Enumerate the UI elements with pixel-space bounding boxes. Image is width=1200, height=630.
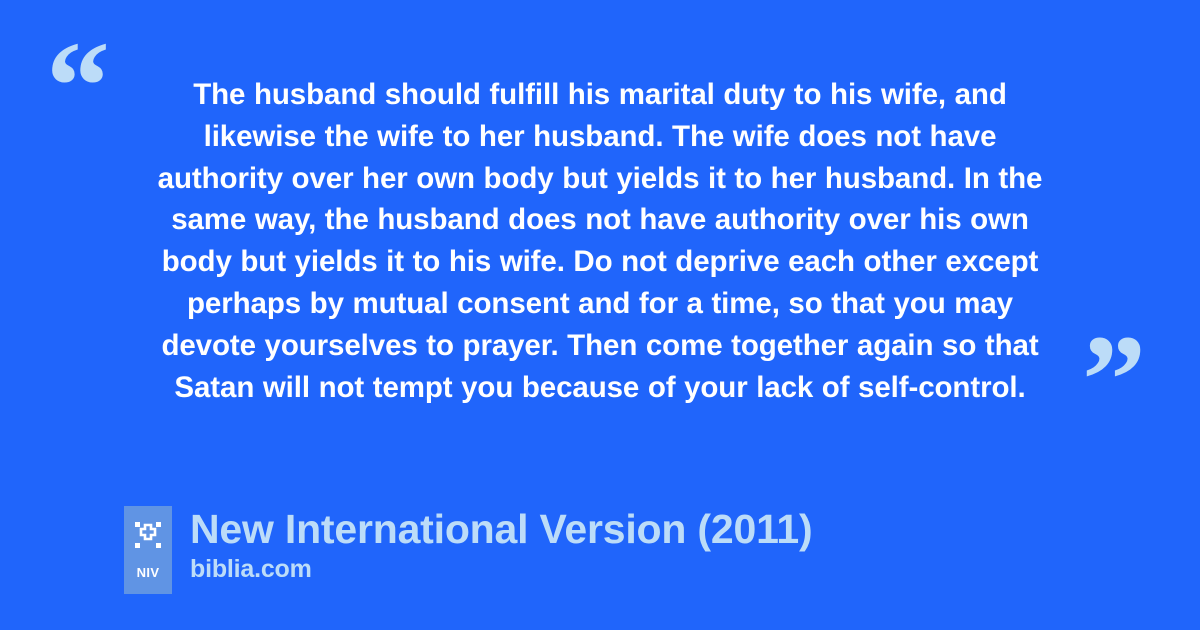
- quote-card: “ The husband should fulfill his marital…: [0, 0, 1200, 630]
- attribution-text-group: New International Version (2011) biblia.…: [190, 506, 812, 584]
- attribution-footer: NIV New International Version (2011) bib…: [124, 506, 812, 594]
- quote-block: The husband should fulfill his marital d…: [112, 74, 1088, 408]
- quote-line: The husband should fulfill his marital d…: [193, 78, 1007, 111]
- opening-quote-icon: “: [46, 22, 108, 150]
- bible-version-badge: NIV: [124, 506, 172, 594]
- quote-line: likewise the wife to her husband. The wi…: [204, 120, 997, 153]
- quote-line: Satan will not tempt you because of your…: [174, 371, 1025, 404]
- bible-version-abbreviation: NIV: [137, 566, 160, 579]
- closing-quote-icon: ”: [1082, 316, 1144, 444]
- quote-text: The husband should fulfill his marital d…: [112, 74, 1088, 408]
- cross-with-corner-markers-icon: [135, 522, 161, 548]
- quote-line: body but yields it to his wife. Do not d…: [162, 245, 1039, 278]
- source-website: biblia.com: [190, 554, 812, 584]
- bible-version-title: New International Version (2011): [190, 506, 812, 552]
- quote-line: authority over her own body but yields i…: [158, 162, 1043, 195]
- quote-line: same way, the husband does not have auth…: [171, 203, 1029, 236]
- quote-line: perhaps by mutual consent and for a time…: [187, 287, 1013, 320]
- quote-line: devote yourselves to prayer. Then come t…: [161, 329, 1038, 362]
